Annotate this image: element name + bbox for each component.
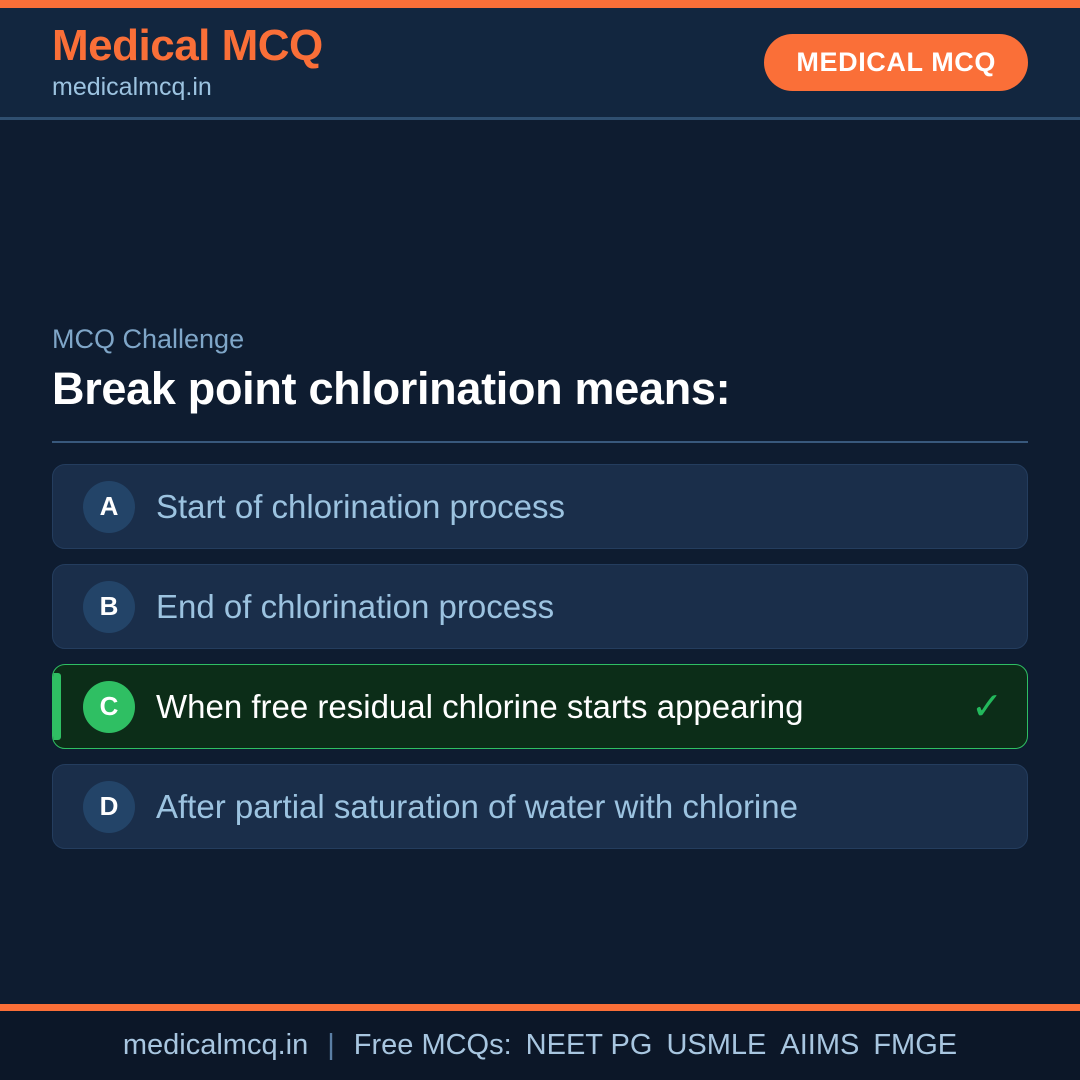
footer-separator: | [308, 1031, 354, 1060]
brand-title: Medical MCQ [52, 23, 323, 69]
option-letter-badge-a: A [83, 481, 135, 533]
footer-site[interactable]: medicalmcq.in [123, 1031, 308, 1060]
correct-accent-bar [53, 673, 61, 740]
main-content: MCQ Challenge Break point chlorination m… [0, 120, 1080, 1004]
footer-tags: Free MCQs:NEET PGUSMLEAIIMSFMGE [354, 1031, 957, 1060]
option-text-a: Start of chlorination process [156, 487, 565, 527]
footer-tag-fmge[interactable]: FMGE [873, 1029, 957, 1061]
top-accent-bar [0, 0, 1080, 8]
quiz-eyebrow: MCQ Challenge [52, 323, 1028, 355]
footer-tag-neet-pg[interactable]: NEET PG [526, 1029, 667, 1061]
option-row-d[interactable]: D After partial saturation of water with… [52, 764, 1028, 849]
mcq-card-page: Medical MCQ medicalmcq.in MEDICAL MCQ MC… [0, 0, 1080, 1080]
option-row-b[interactable]: B End of chlorination process ✓ [52, 564, 1028, 649]
option-text-b: End of chlorination process [156, 587, 554, 627]
quiz-container: MCQ Challenge Break point chlorination m… [52, 323, 1028, 849]
footer-label: Free MCQs: [354, 1029, 526, 1061]
options-list: A Start of chlorination process ✓ B End … [52, 464, 1028, 849]
header-badge: MEDICAL MCQ [764, 34, 1028, 91]
footer-tag-usmle[interactable]: USMLE [666, 1029, 780, 1061]
question-text: Break point chlorination means: [52, 363, 1028, 415]
check-icon-c: ✓ [955, 688, 1003, 726]
page-footer: medicalmcq.in | Free MCQs:NEET PGUSMLEAI… [0, 1011, 1080, 1080]
option-text-d: After partial saturation of water with c… [156, 787, 798, 827]
option-row-c[interactable]: C When free residual chlorine starts app… [52, 664, 1028, 749]
brand-block: Medical MCQ medicalmcq.in [52, 23, 323, 102]
footer-tag-aiims[interactable]: AIIMS [780, 1029, 873, 1061]
option-row-a[interactable]: A Start of chlorination process ✓ [52, 464, 1028, 549]
option-text-c: When free residual chlorine starts appea… [156, 687, 804, 727]
option-letter-badge-b: B [83, 581, 135, 633]
question-divider [52, 441, 1028, 443]
option-letter-badge-d: D [83, 781, 135, 833]
option-letter-badge-c: C [83, 681, 135, 733]
page-header: Medical MCQ medicalmcq.in MEDICAL MCQ [0, 8, 1080, 120]
footer-accent-bar [0, 1004, 1080, 1011]
brand-subtitle: medicalmcq.in [52, 72, 323, 102]
